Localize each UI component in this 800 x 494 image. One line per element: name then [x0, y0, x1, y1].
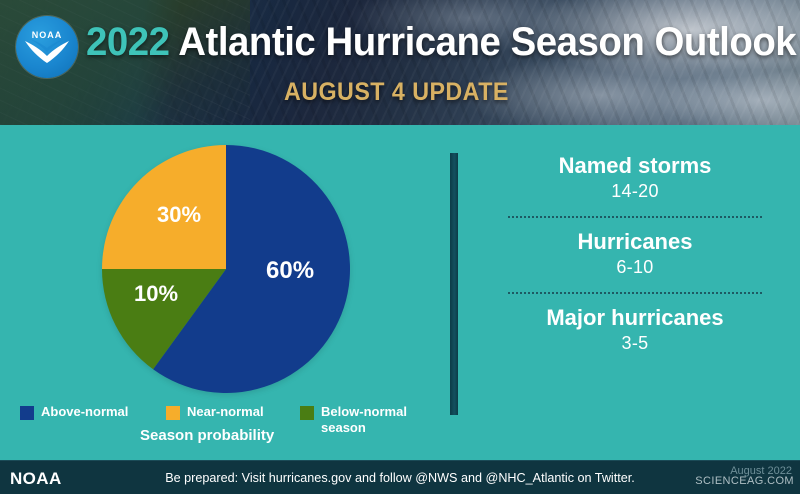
legend-item-above-normal[interactable]: Above-normal	[20, 404, 128, 420]
svg-text:NOAA: NOAA	[32, 30, 63, 40]
pie-label-above-normal: 60%	[266, 257, 314, 284]
legend-label-below-normal: Below-normal season	[321, 404, 407, 436]
main-content: 60% 30% 10% Above-normal Near-normal Bel…	[0, 125, 800, 460]
stat-value-named-storms: 14-20	[500, 179, 770, 203]
page-title: 2022 Atlantic Hurricane Season Outlook	[86, 14, 758, 70]
stat-named-storms: Named storms 14-20	[500, 153, 770, 203]
stat-value-hurricanes: 6-10	[500, 255, 770, 279]
title-block: 2022 Atlantic Hurricane Season Outlook	[86, 14, 786, 76]
legend-swatch-below-normal	[300, 406, 314, 420]
page-subtitle: AUGUST 4 UPDATE	[284, 78, 509, 107]
legend-caption: Season probability	[140, 427, 274, 444]
stat-major-hurricanes: Major hurricanes 3-5	[500, 305, 770, 355]
legend-swatch-near-normal	[166, 406, 180, 420]
legend-label-above-normal: Above-normal	[41, 404, 128, 420]
infographic-root: NOAA 2022 Atlantic Hurricane Season Outl…	[0, 0, 800, 494]
legend-item-below-normal[interactable]: Below-normal season	[300, 404, 407, 436]
footer-watermark: SCIENCEAG.COM	[695, 475, 794, 487]
legend-label-near-normal: Near-normal	[187, 404, 264, 420]
pie-label-near-normal: 30%	[157, 202, 201, 227]
title-text: Atlantic Hurricane Season Outlook	[178, 20, 796, 64]
stat-hurricanes: Hurricanes 6-10	[500, 229, 770, 279]
legend-swatch-above-normal	[20, 406, 34, 420]
vertical-divider	[450, 153, 458, 415]
stat-label-named-storms: Named storms	[500, 153, 770, 179]
footer-bar: NOAA Be prepared: Visit hurricanes.gov a…	[0, 460, 800, 494]
stat-label-hurricanes: Hurricanes	[500, 229, 770, 255]
noaa-logo-icon: NOAA	[16, 16, 78, 78]
forecast-stats-panel: Named storms 14-20 Hurricanes 6-10 Major…	[500, 153, 770, 355]
header-banner: NOAA 2022 Atlantic Hurricane Season Outl…	[0, 0, 800, 125]
legend-item-near-normal[interactable]: Near-normal	[166, 404, 264, 420]
stat-divider-1	[508, 216, 762, 218]
stat-divider-2	[508, 292, 762, 294]
footer-message: Be prepared: Visit hurricanes.gov and fo…	[12, 470, 788, 485]
season-probability-pie-chart: 60% 30% 10%	[100, 143, 352, 395]
stat-label-major-hurricanes: Major hurricanes	[500, 305, 770, 331]
pie-label-below-normal: 10%	[134, 281, 178, 306]
pie-svg: 60% 30% 10%	[100, 143, 352, 395]
stat-value-major-hurricanes: 3-5	[500, 331, 770, 355]
title-year: 2022	[86, 20, 170, 64]
